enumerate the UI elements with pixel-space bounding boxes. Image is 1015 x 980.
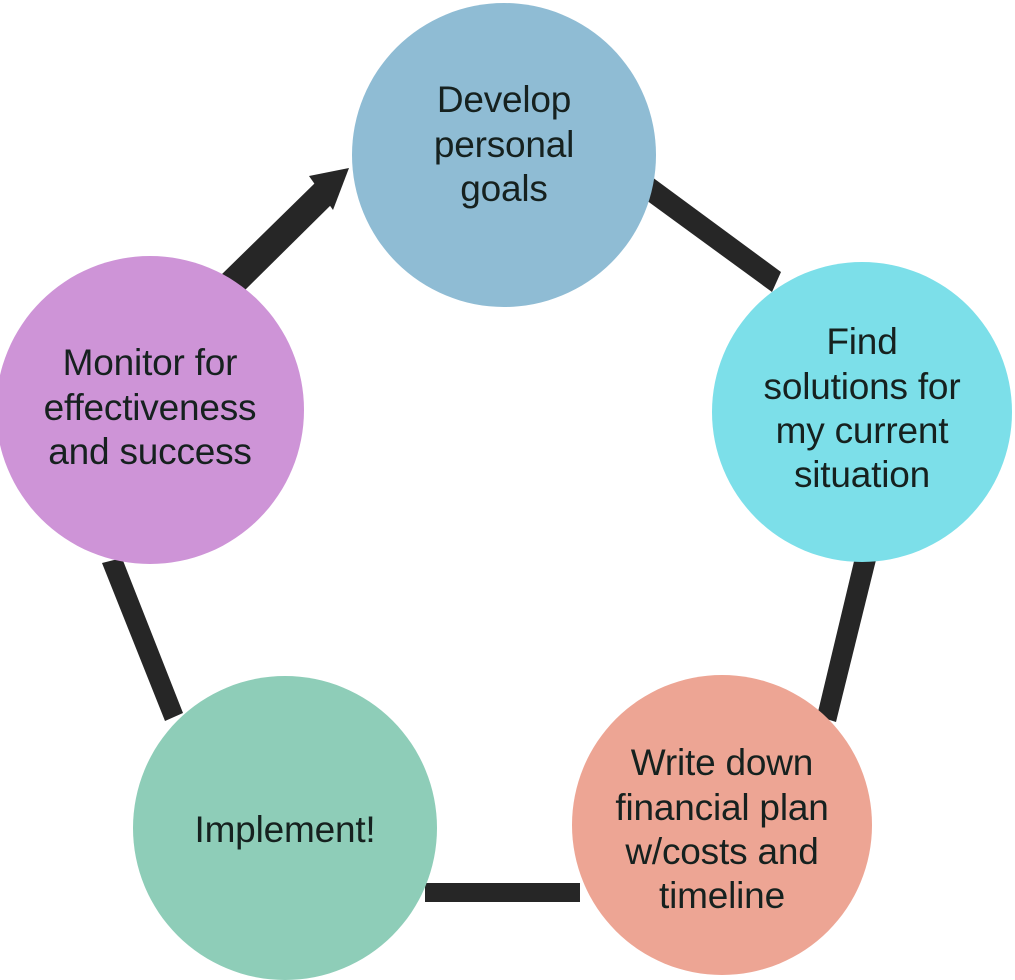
node-write-plan-label: Write down financial plan w/costs and ti… <box>601 741 842 919</box>
cycle-diagram: Develop personal goals Find solutions fo… <box>0 0 1015 979</box>
node-monitor-label: Monitor for effectiveness and success <box>30 341 271 474</box>
node-develop-goals-label: Develop personal goals <box>420 78 588 211</box>
node-find-solutions-label: Find solutions for my current situation <box>750 320 975 498</box>
node-develop-goals[interactable]: Develop personal goals <box>352 3 656 307</box>
connector-write-to-implement <box>425 883 580 902</box>
node-find-solutions[interactable]: Find solutions for my current situation <box>712 262 1012 562</box>
node-write-plan[interactable]: Write down financial plan w/costs and ti… <box>572 675 872 975</box>
node-monitor[interactable]: Monitor for effectiveness and success <box>0 256 304 564</box>
node-implement-label: Implement! <box>180 808 389 852</box>
connector-develop-to-find <box>646 177 781 292</box>
node-implement[interactable]: Implement! <box>133 676 437 980</box>
connector-implement-to-monitor <box>102 558 183 721</box>
connector-monitor-to-develop <box>219 168 349 295</box>
connector-find-to-write <box>817 553 877 722</box>
